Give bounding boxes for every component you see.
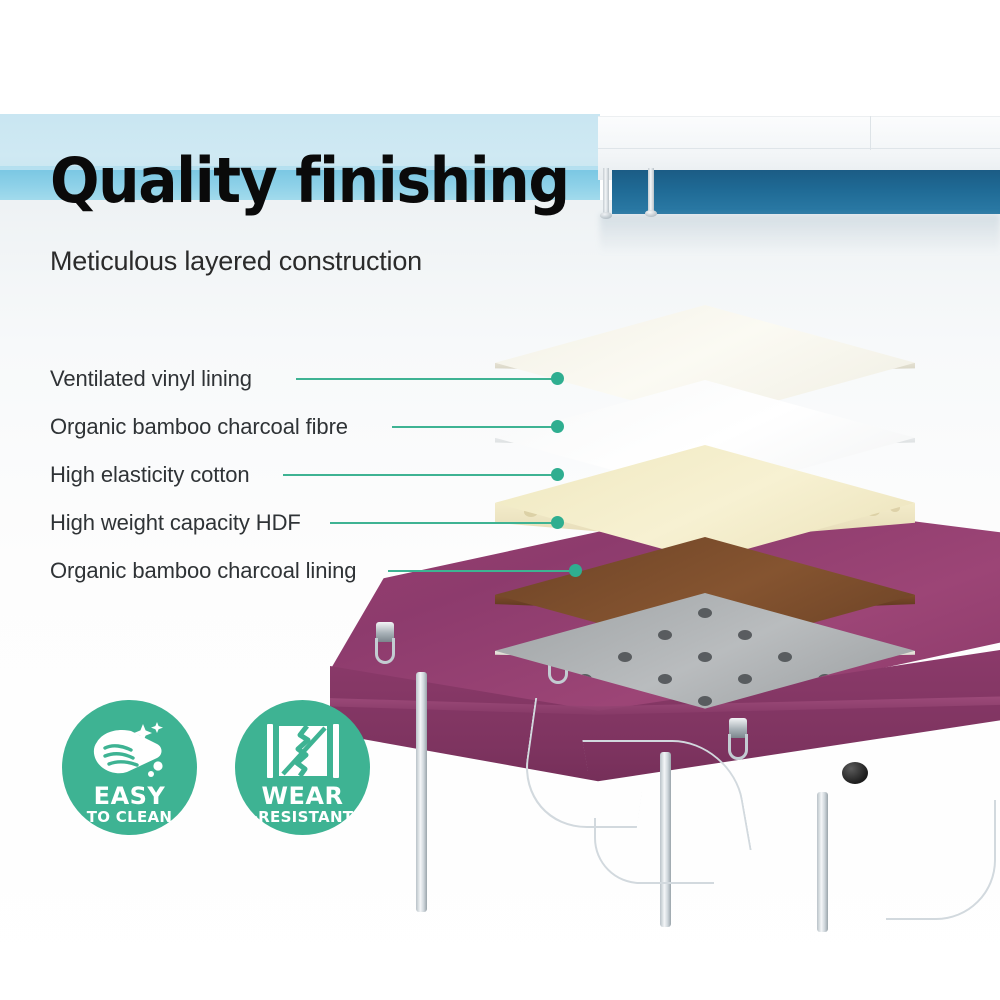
callout-label: High weight capacity HDF: [50, 510, 301, 536]
badge-title: EASY: [62, 782, 197, 810]
leader-dot: [551, 420, 564, 433]
callout-elasticity-cotton: High elasticity cotton: [50, 462, 250, 488]
callout-label: Organic bamboo charcoal fibre: [50, 414, 348, 440]
callout-label: High elasticity cotton: [50, 462, 250, 488]
wiping-hand-sparkle-icon: [87, 722, 173, 778]
badge-subtitle: -RESISTANT: [235, 808, 370, 826]
badge-wear-resistant: WEAR -RESISTANT: [235, 700, 370, 835]
leader-line: [283, 474, 558, 476]
callout-ventilated-vinyl: Ventilated vinyl lining: [50, 366, 252, 392]
badge-title: WEAR: [235, 782, 370, 810]
callout-label: Ventilated vinyl lining: [50, 366, 252, 392]
callout-bamboo-fibre: Organic bamboo charcoal fibre: [50, 414, 348, 440]
badge-subtitle: TO CLEAN: [62, 808, 197, 826]
callout-label: Organic bamboo charcoal lining: [50, 558, 356, 584]
badge-easy-to-clean: EASY TO CLEAN: [62, 700, 197, 835]
leader-dot: [551, 372, 564, 385]
leader-dot: [551, 516, 564, 529]
leader-dot: [569, 564, 582, 577]
callout-bamboo-lining: Organic bamboo charcoal lining: [50, 558, 356, 584]
leader-dot: [551, 468, 564, 481]
product-feature-image: Quality finishing Meticulous layered con…: [0, 0, 1000, 1000]
torn-fabric-no-tear-icon: [267, 722, 339, 780]
callout-hdf: High weight capacity HDF: [50, 510, 301, 536]
leader-line: [388, 570, 576, 572]
leader-line: [296, 378, 558, 380]
leader-line: [392, 426, 558, 428]
leader-line: [330, 522, 558, 524]
layer-callouts: Ventilated vinyl lining Organic bamboo c…: [0, 0, 1000, 1000]
